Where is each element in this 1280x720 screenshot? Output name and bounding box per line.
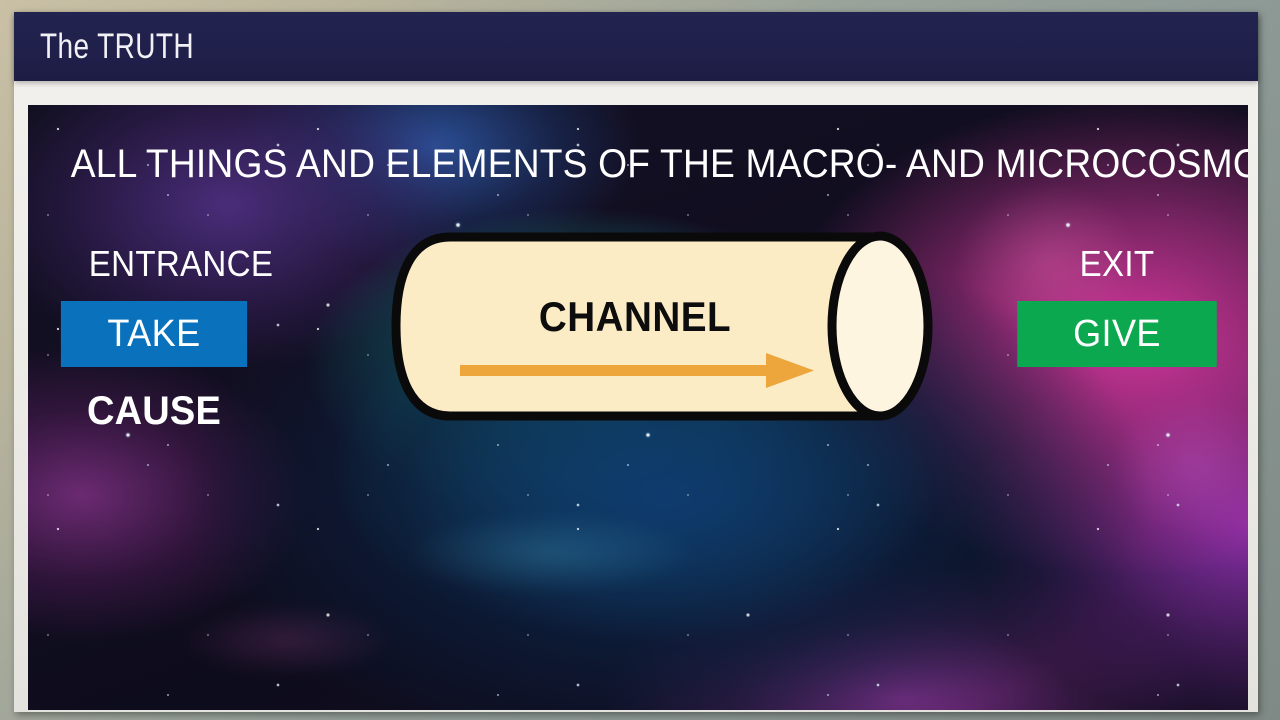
entrance-label: ENTRANCE (66, 243, 296, 285)
exit-label: EXIT (1020, 243, 1213, 285)
page-title: The TRUTH (40, 27, 194, 67)
slide-root: The TRUTH ALL THINGS AND ELEMENTS OF THE… (0, 0, 1280, 720)
entrance-column: ENTRANCE TAKE CAUSE (56, 243, 306, 434)
channel-cylinder: CHANNEL (390, 229, 952, 424)
title-bar: The TRUTH (14, 12, 1258, 81)
exit-column: EXIT GIVE (1012, 243, 1222, 367)
give-box[interactable]: GIVE (1017, 301, 1217, 367)
slide-headline: ALL THINGS AND ELEMENTS OF THE MACRO- AN… (71, 142, 1206, 187)
take-box[interactable]: TAKE (61, 301, 247, 367)
channel-label: CHANNEL (410, 293, 861, 341)
slide-content-layer: ALL THINGS AND ELEMENTS OF THE MACRO- AN… (28, 105, 1248, 710)
galaxy-background-image: ALL THINGS AND ELEMENTS OF THE MACRO- AN… (28, 105, 1248, 710)
cause-caption: CAUSE (61, 389, 247, 434)
